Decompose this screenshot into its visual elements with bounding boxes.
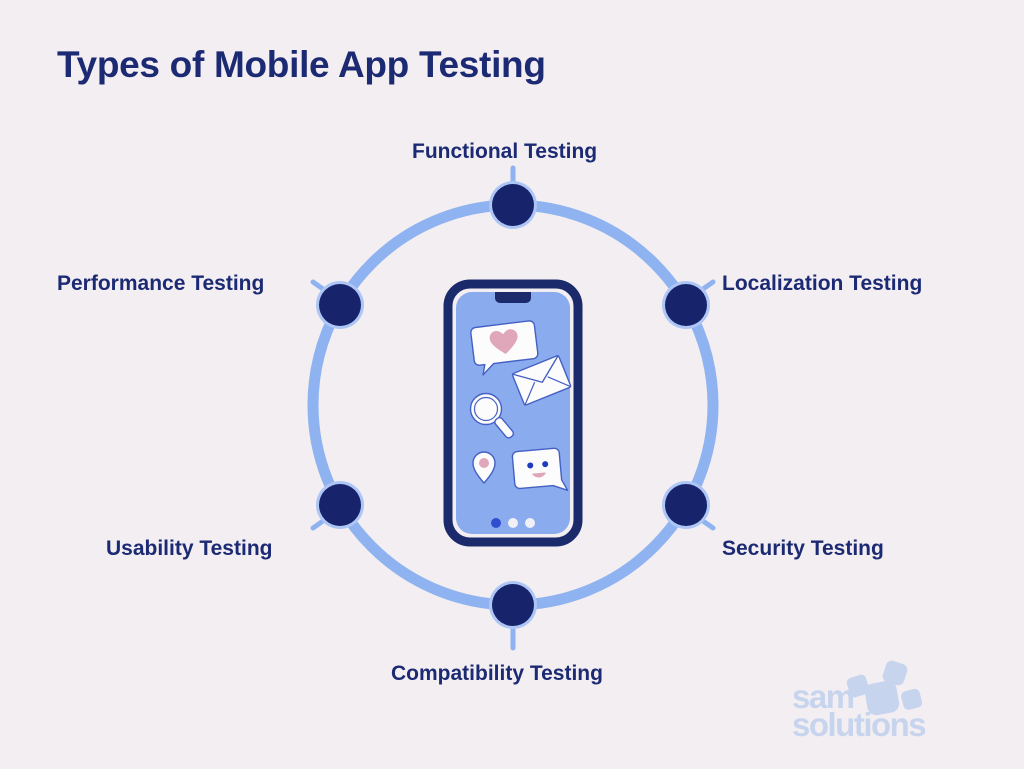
infographic-canvas: Types of Mobile App Testing bbox=[0, 0, 1024, 769]
node-compatibility[interactable] bbox=[492, 584, 534, 626]
logo-line-2: solutions bbox=[792, 706, 925, 743]
node-functional[interactable] bbox=[492, 184, 534, 226]
page-dot[interactable] bbox=[525, 518, 535, 528]
node-localization[interactable] bbox=[665, 284, 707, 326]
label-compatibility-testing: Compatibility Testing bbox=[391, 662, 603, 686]
phone-notch bbox=[495, 292, 531, 303]
node-security[interactable] bbox=[665, 484, 707, 526]
node-performance[interactable] bbox=[319, 284, 361, 326]
phone-page-dots bbox=[491, 518, 535, 528]
label-localization-testing: Localization Testing bbox=[722, 272, 922, 296]
label-performance-testing: Performance Testing bbox=[57, 272, 264, 296]
label-functional-testing: Functional Testing bbox=[412, 140, 597, 164]
page-dot[interactable] bbox=[508, 518, 518, 528]
page-dot-active[interactable] bbox=[491, 518, 501, 528]
sam-solutions-logo: sam solutions bbox=[774, 660, 974, 745]
node-usability[interactable] bbox=[319, 484, 361, 526]
radial-cycle-diagram bbox=[0, 0, 1024, 769]
label-usability-testing: Usability Testing bbox=[106, 537, 272, 561]
phone-illustration bbox=[448, 284, 578, 542]
label-security-testing: Security Testing bbox=[722, 537, 884, 561]
